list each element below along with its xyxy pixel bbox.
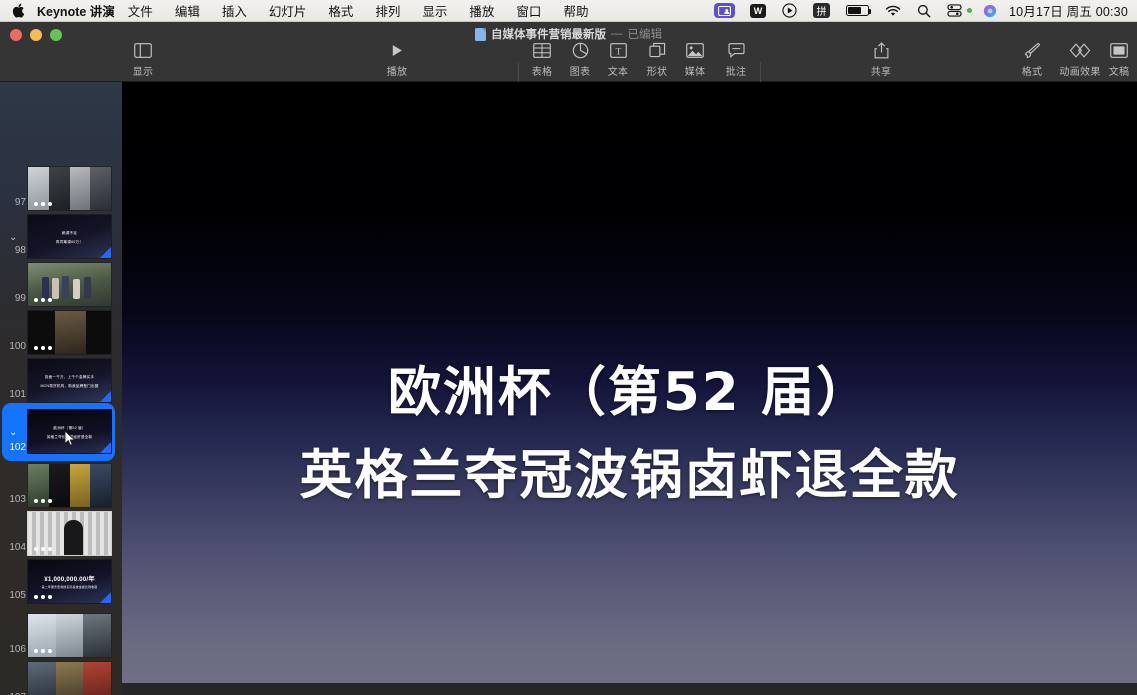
share-up-arrow-icon <box>874 40 889 60</box>
slide-number: 99 <box>4 293 26 304</box>
toolbar-buttons: 显示 播放 表格 图表 <box>0 40 1137 82</box>
play-button-label: 播放 <box>387 63 408 78</box>
thumbnail-image <box>27 613 112 658</box>
menu-bar-clock[interactable]: 10月17日 周五 00:30 <box>1005 1 1128 20</box>
spotlight-search-icon[interactable] <box>909 0 939 22</box>
text-box-icon: T <box>610 40 627 60</box>
menu-bar-status-icons: W 拼 10月17日 周五 00:30 <box>707 0 1137 22</box>
chevron-down-icon[interactable]: ⌄ <box>9 232 17 243</box>
table-icon <box>533 40 551 60</box>
mouse-cursor <box>64 430 76 447</box>
slide-number: 102 <box>4 442 26 453</box>
slide-number: 106 <box>4 644 26 655</box>
battery-icon[interactable] <box>838 0 877 22</box>
corner-accent <box>100 592 111 603</box>
format-button[interactable]: 格式 <box>1009 40 1055 78</box>
svg-text:T: T <box>615 47 621 57</box>
comment-bubble-icon <box>728 40 745 60</box>
slide-title-line1[interactable]: 欧洲杯（第52 届） <box>122 350 1137 426</box>
apple-logo-icon[interactable] <box>0 3 37 18</box>
thumbnail-image: 赖源不足 再同筹调60万！ <box>27 214 112 259</box>
menu-item-arrange[interactable]: 排列 <box>364 1 411 20</box>
corner-accent <box>100 391 111 402</box>
chart-button-label: 图表 <box>570 63 591 78</box>
build-dots <box>34 649 52 653</box>
slide-title-line2[interactable]: 英格兰夺冠波锅卤虾退全款 <box>122 433 1137 509</box>
table-button-label: 表格 <box>532 63 553 78</box>
document-panel-icon <box>1110 40 1128 60</box>
build-dots <box>34 202 52 206</box>
build-dots <box>34 346 52 350</box>
keynote-toolbar: 自媒体事件营销最新版 — 已编辑 显示 播放 <box>0 22 1137 82</box>
build-dots <box>34 595 52 599</box>
comment-button[interactable]: 批注 <box>713 40 759 78</box>
shape-button-label: 形状 <box>647 63 668 78</box>
corner-accent <box>100 247 111 258</box>
thumbnail-image <box>27 310 112 355</box>
photo-icon <box>686 40 704 60</box>
view-button[interactable]: 显示 <box>120 40 166 78</box>
wechat-w-icon[interactable]: W <box>742 0 774 22</box>
paintbrush-icon <box>1024 40 1041 60</box>
media-button-label: 媒体 <box>685 63 706 78</box>
menu-item-file[interactable]: 文件 <box>117 1 164 20</box>
menu-item-insert[interactable]: 插入 <box>211 1 258 20</box>
shapes-icon <box>649 40 666 60</box>
comment-button-label: 批注 <box>726 63 747 78</box>
corner-accent <box>100 442 111 453</box>
keynote-document-icon <box>475 28 486 41</box>
menu-item-format[interactable]: 格式 <box>317 1 364 20</box>
play-triangle-icon <box>389 40 405 60</box>
text-button-label: 文本 <box>608 63 629 78</box>
keynote-window: 自媒体事件营销最新版 — 已编辑 显示 播放 <box>0 22 1137 695</box>
document-button-label: 文稿 <box>1109 63 1130 78</box>
menu-item-window[interactable]: 窗口 <box>505 1 552 20</box>
view-button-label: 显示 <box>133 63 154 78</box>
thumbnail-line2: 再同筹调60万！ <box>28 240 111 246</box>
chevron-down-icon[interactable]: ⌄ <box>9 427 17 438</box>
siri-icon[interactable] <box>975 0 1005 22</box>
menu-item-play[interactable]: 播放 <box>458 1 505 20</box>
media-button[interactable]: 媒体 <box>672 40 718 78</box>
airplay-display-icon[interactable] <box>714 3 735 18</box>
slide-number: 105 <box>4 590 26 601</box>
wifi-icon[interactable] <box>877 0 909 22</box>
thumbnail-image <box>27 166 112 211</box>
menu-item-edit[interactable]: 编辑 <box>164 1 211 20</box>
view-panel-icon <box>134 40 152 60</box>
animate-button-label: 动画效果 <box>1059 63 1100 78</box>
play-button[interactable]: 播放 <box>374 40 420 78</box>
menu-item-slide[interactable]: 幻灯片 <box>258 1 318 20</box>
thumbnail-image: ¥1,000,000.00/年 第二年服务费用按实际投放金额比例收取 <box>27 559 112 604</box>
thumbnail-image <box>27 661 112 695</box>
recording-indicator-dot <box>967 8 972 13</box>
thumbnail-line2: MCN带货机构，助我品牌登门出圈 <box>28 384 111 390</box>
slide-number: 104 <box>4 542 26 553</box>
title-separator: — <box>611 28 623 40</box>
slide-number: 98 <box>4 245 26 256</box>
thumbnail-image <box>27 511 112 556</box>
thumbnail-line1: 赖源不足 <box>28 231 111 237</box>
thumbnail-line1: ¥1,000,000.00/年 <box>28 575 111 585</box>
menu-item-help[interactable]: 帮助 <box>552 1 599 20</box>
share-button-label: 共享 <box>871 63 892 78</box>
format-button-label: 格式 <box>1022 63 1043 78</box>
macos-menu-bar: Keynote 讲演 文件 编辑 插入 幻灯片 格式 排列 显示 播放 窗口 帮… <box>0 0 1137 22</box>
media-play-icon[interactable] <box>774 0 805 22</box>
menu-item-view[interactable]: 显示 <box>411 1 458 20</box>
build-dots <box>34 499 52 503</box>
control-center-icon[interactable] <box>939 0 970 22</box>
document-button[interactable]: 文稿 <box>1096 40 1137 78</box>
animate-diamonds-icon <box>1069 40 1091 60</box>
share-button[interactable]: 共享 <box>858 40 904 78</box>
slide-navigator[interactable]: 97 ⌄ 赖源不足 再同筹调60万！ 98 99 <box>0 82 122 695</box>
slide-canvas[interactable]: 欧洲杯（第52 届） 英格兰夺冠波锅卤虾退全款 <box>122 82 1137 695</box>
slide-number: 100 <box>4 341 26 352</box>
thumbnail-image <box>27 463 112 508</box>
thumbnail-image: 投面一千万，上千个金牌买手 MCN带货机构，助我品牌登门出圈 <box>27 358 112 403</box>
thumbnail-line2: 第二年服务费用按实际投放金额比例收取 <box>28 585 111 590</box>
thumbnail-line1: 投面一千万，上千个金牌买手 <box>28 375 111 381</box>
slide-number: 97 <box>4 197 26 208</box>
thumbnail-image <box>27 262 112 307</box>
input-source-pinyin-icon[interactable]: 拼 <box>805 0 838 22</box>
photo-strip <box>28 662 111 695</box>
build-dots <box>34 547 52 551</box>
pie-chart-icon <box>572 40 589 60</box>
current-slide[interactable]: 欧洲杯（第52 届） 英格兰夺冠波锅卤虾退全款 <box>122 82 1137 683</box>
slide-number: 103 <box>4 494 26 505</box>
menu-app-name[interactable]: Keynote 讲演 <box>37 1 115 20</box>
slide-number: 101 <box>4 389 26 400</box>
build-dots <box>34 298 52 302</box>
